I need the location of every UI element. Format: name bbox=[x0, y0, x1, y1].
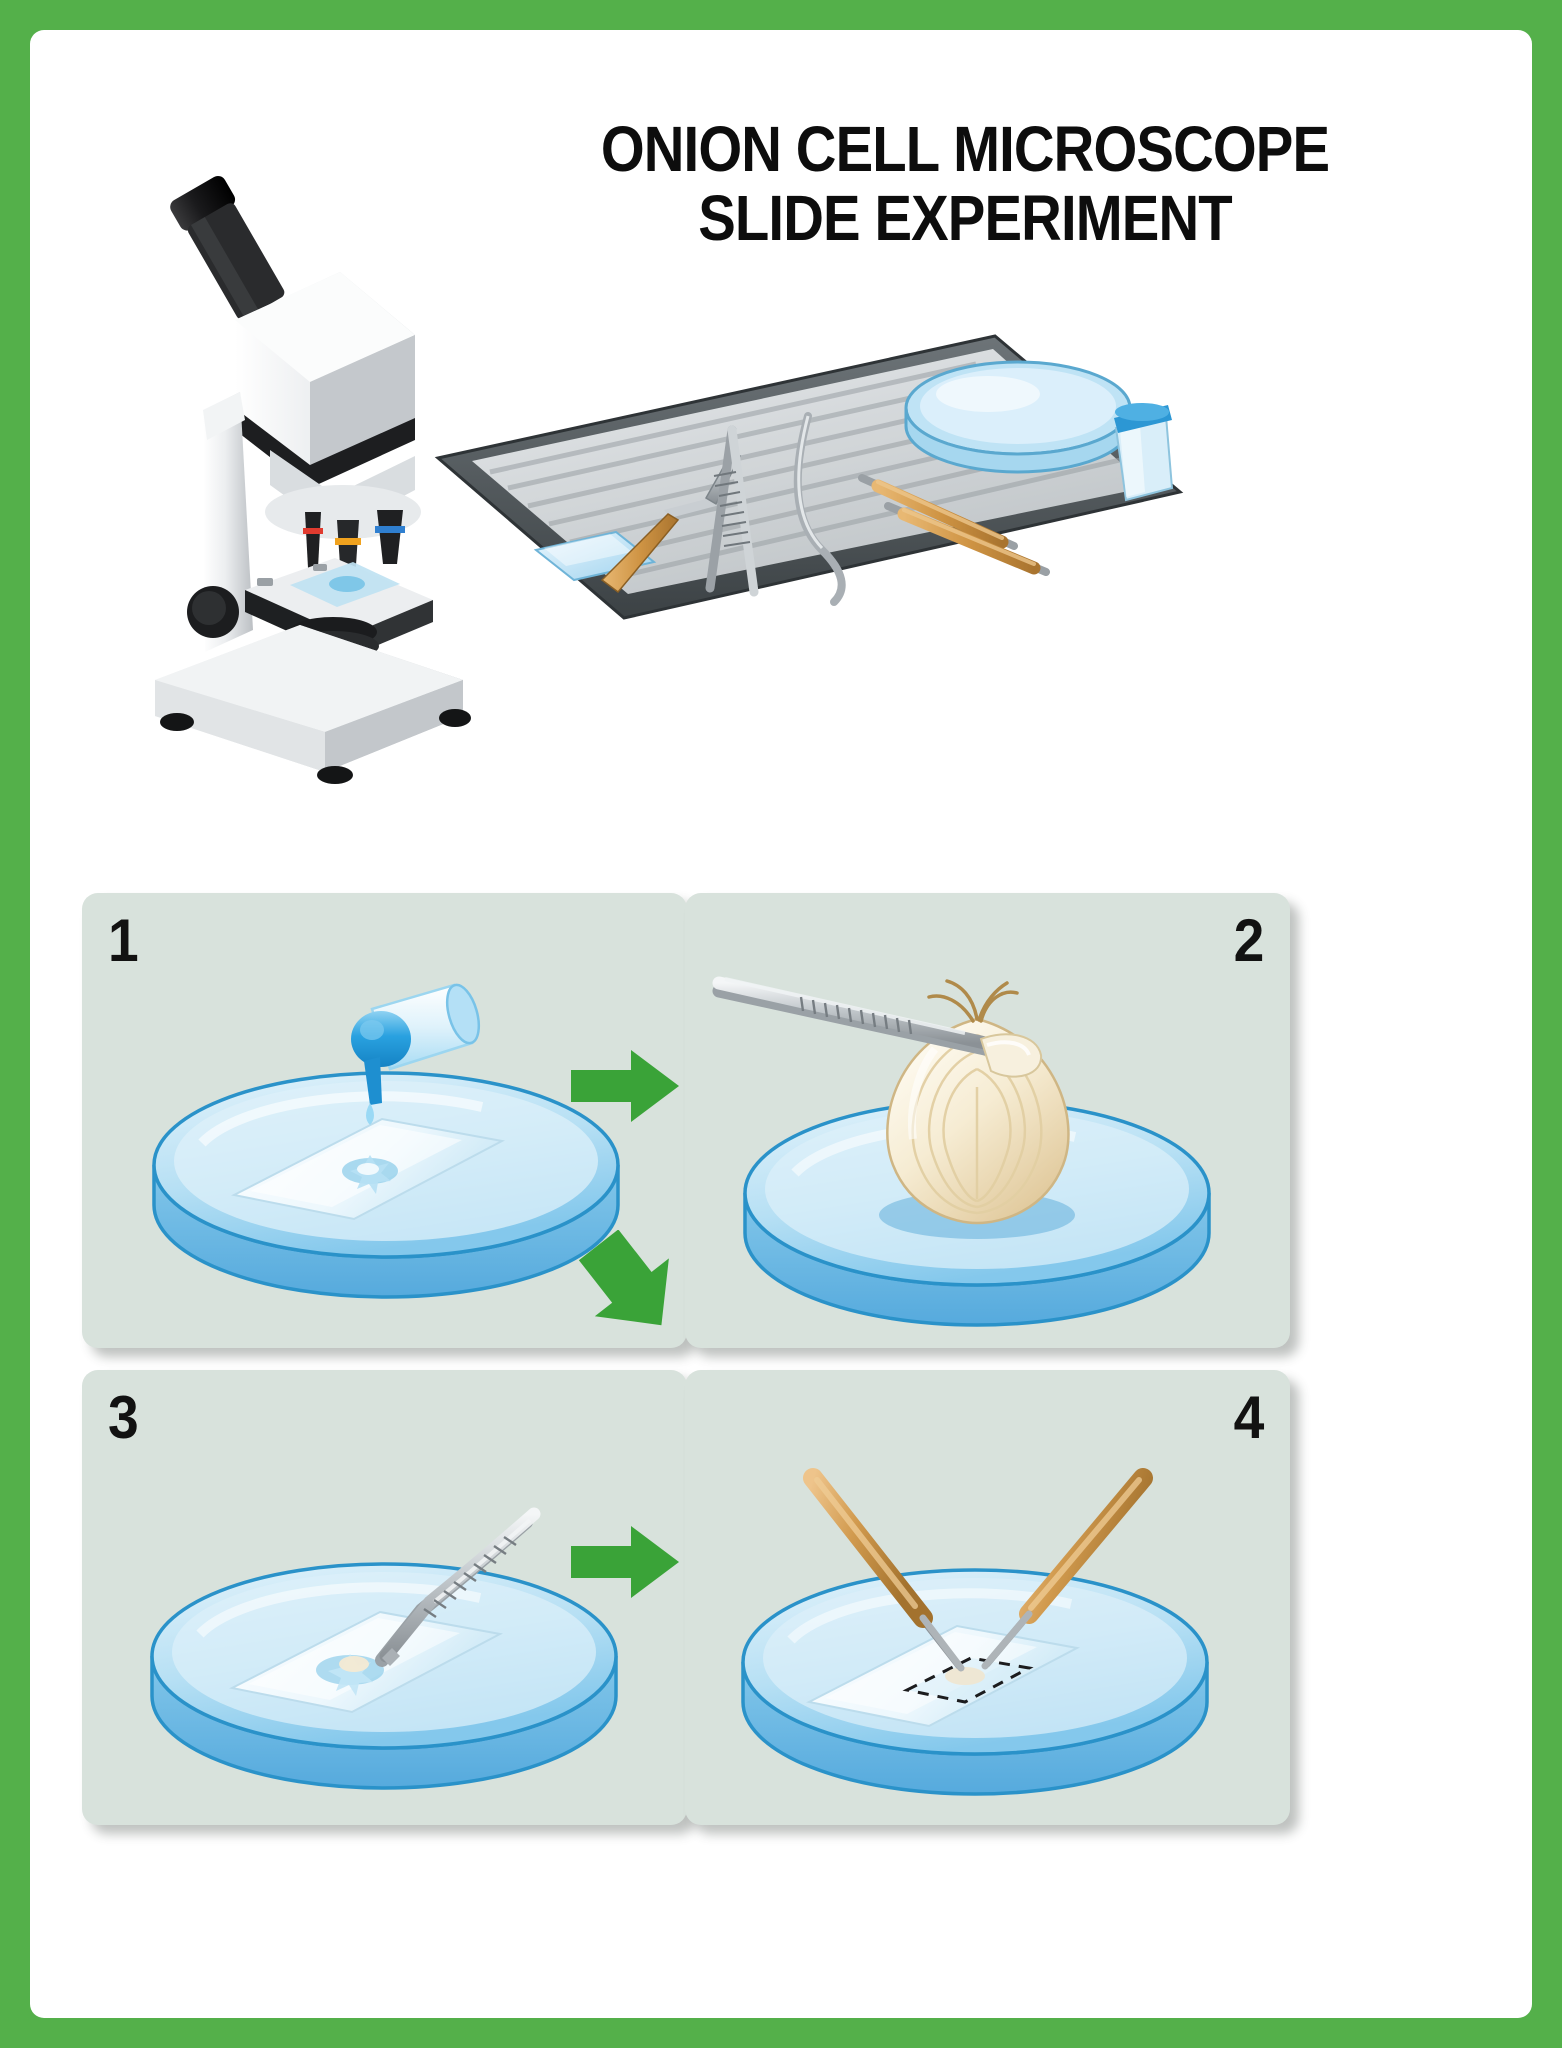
dropper-bulb bbox=[351, 1011, 411, 1067]
poster-page: ONION CELL MICROSCOPE SLIDE EXPERIMENT bbox=[30, 30, 1532, 2018]
instrument-tray-illustration bbox=[410, 320, 1200, 635]
step-2-illustration bbox=[685, 893, 1290, 1348]
title-line-2: SLIDE EXPERIMENT bbox=[521, 184, 1410, 253]
step-4-illustration bbox=[685, 1370, 1290, 1825]
poster-frame: ONION CELL MICROSCOPE SLIDE EXPERIMENT bbox=[0, 0, 1562, 2048]
arrow-step-1-to-2 bbox=[565, 1044, 685, 1133]
step-panel-2[interactable]: 2 bbox=[685, 893, 1290, 1348]
specimen bbox=[945, 1667, 985, 1685]
onion-epidermis-peel bbox=[981, 1034, 1041, 1076]
petri-dish bbox=[906, 362, 1130, 472]
onion-half bbox=[887, 981, 1068, 1223]
onion-neck bbox=[929, 981, 1017, 1021]
eyepiece bbox=[167, 173, 290, 324]
page-title: ONION CELL MICROSCOPE SLIDE EXPERIMENT bbox=[521, 115, 1410, 253]
arrow-step-2-to-3 bbox=[575, 1230, 685, 1345]
title-line-1: ONION CELL MICROSCOPE bbox=[521, 115, 1410, 184]
step-panel-4[interactable]: 4 bbox=[685, 1370, 1290, 1825]
microscope-base bbox=[155, 625, 471, 784]
arrow-step-3-to-4 bbox=[565, 1520, 685, 1609]
